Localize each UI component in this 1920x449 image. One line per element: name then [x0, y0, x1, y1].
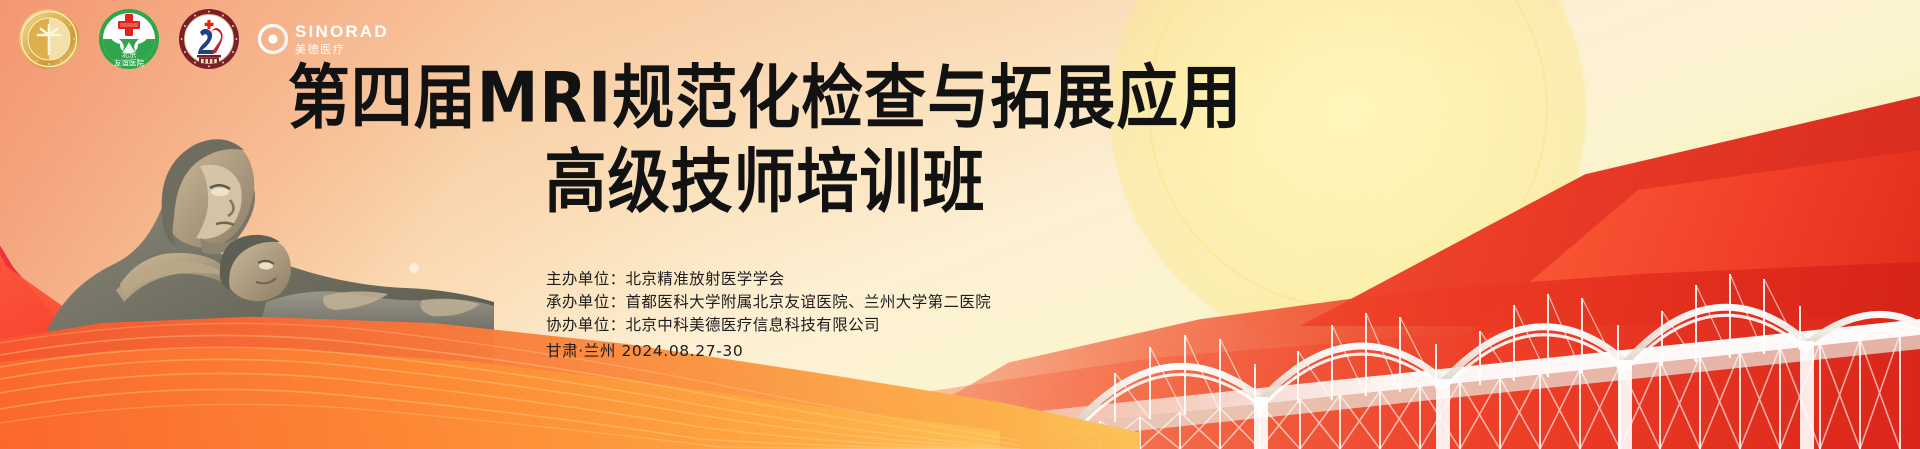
title-line-2: 高级技师培训班 [0, 146, 1530, 218]
sinorad-brand-name: SINORAD [295, 23, 389, 40]
conference-banner: 北京 友谊医院 [0, 0, 1920, 449]
detail-coorganizer: 协办单位：北京中科美德医疗信息科技有限公司 [546, 314, 991, 337]
beijing-precision-radiology-society-logo [18, 8, 80, 70]
detail-organizer: 主办单位：北京精准放射医学学会 [546, 268, 991, 291]
sinorad-logo: SINORAD 美德医疗 [258, 10, 389, 68]
detail-location-date: 甘肃·兰州 2024.08.27-30 [546, 340, 991, 363]
sinorad-brand-name-cn: 美德医疗 [295, 44, 389, 55]
zhongshan-bridge-illustration [1040, 199, 1920, 449]
lanzhou-university-second-hospital-logo [178, 8, 240, 70]
event-details-block: 主办单位：北京精准放射医学学会 承办单位：首都医科大学附属北京友谊医院、兰州大学… [546, 268, 991, 363]
sinorad-mark-icon [258, 24, 288, 54]
svg-text:友谊医院: 友谊医院 [114, 58, 144, 68]
logo-row: 北京 友谊医院 [18, 6, 389, 72]
svg-text:北京: 北京 [122, 49, 137, 59]
title-block: 第四届MRI规范化检查与拓展应用 高级技师培训班 [0, 62, 1530, 211]
beijing-friendship-hospital-logo: 北京 友谊医院 [98, 8, 160, 70]
detail-host: 承办单位：首都医科大学附属北京友谊医院、兰州大学第二医院 [546, 291, 991, 314]
title-line-1: 第四届MRI规范化检查与拓展应用 [0, 62, 1530, 134]
